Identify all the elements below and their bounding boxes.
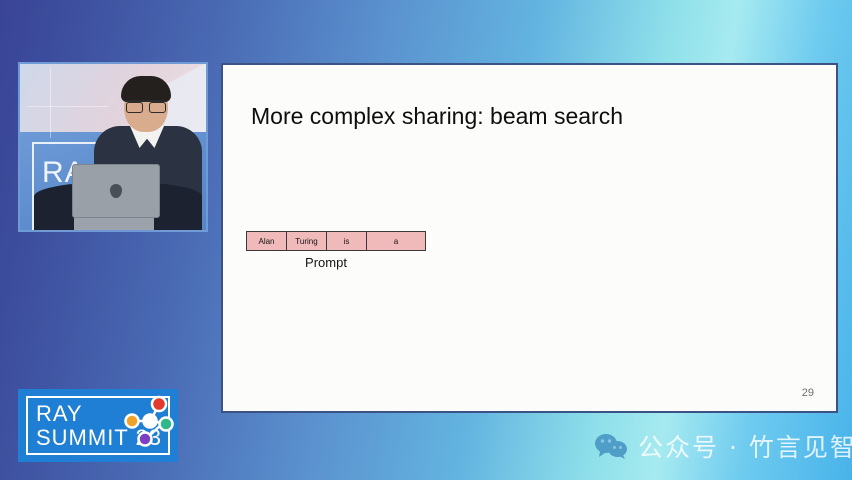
token-box: Turing <box>286 231 327 251</box>
logo-node-graph-icon <box>112 391 176 457</box>
slide-title: More complex sharing: beam search <box>251 103 623 130</box>
prompt-label: Prompt <box>246 255 406 270</box>
speaker-hair <box>121 76 171 102</box>
watermark: 公众号 · 竹言见智 <box>594 428 852 464</box>
backdrop-line <box>28 106 108 107</box>
slide-page-number: 29 <box>802 387 814 399</box>
watermark-text: 公众号 · 竹言见智 <box>638 428 852 464</box>
presentation-recording: RA SU More complex sharing: beam search … <box>0 0 852 480</box>
token-box: a <box>366 231 426 251</box>
laptop <box>72 164 160 218</box>
token-box: Alan <box>246 231 287 251</box>
wechat-icon <box>594 433 628 459</box>
glasses-icon <box>125 100 167 112</box>
presenter-video-thumbnail[interactable]: RA SU <box>18 62 208 232</box>
prompt-token-row: Alan Turing is a <box>246 231 426 251</box>
ray-summit-logo: RAY SUMMIT 23 <box>18 389 178 462</box>
token-box: is <box>326 231 367 251</box>
backdrop-line <box>50 68 51 138</box>
logo-text-ray: RAY <box>36 401 83 427</box>
slide-panel: More complex sharing: beam search Alan T… <box>221 63 838 413</box>
apple-logo-icon <box>110 184 122 198</box>
